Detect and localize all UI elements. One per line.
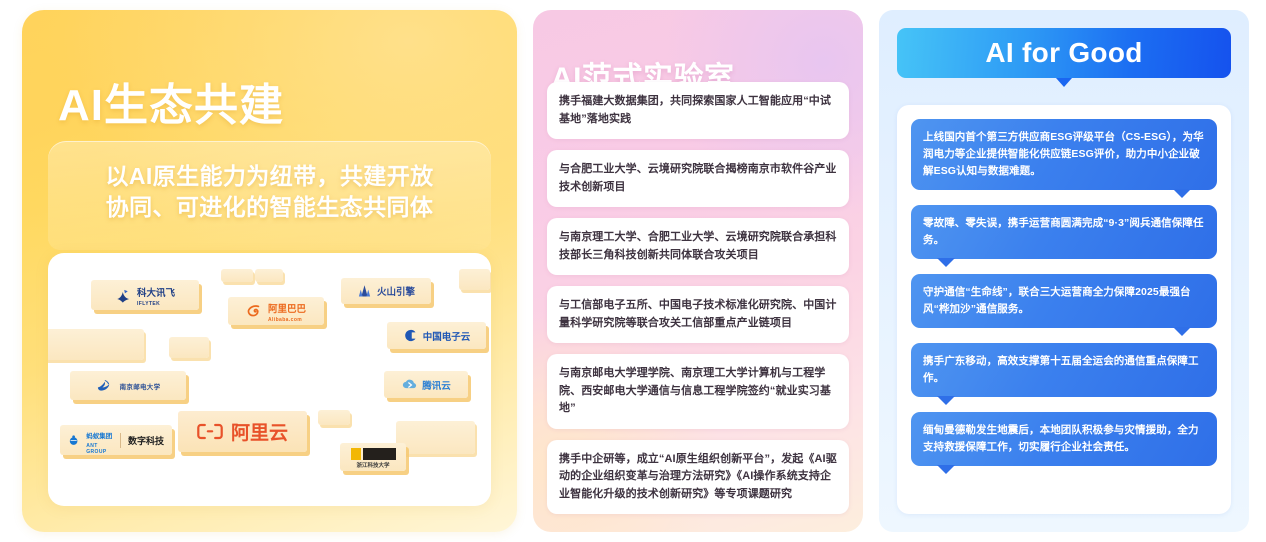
- panel-eco-subtitle-card: 以AI原生能力为纽带，共建开放 协同、可进化的智能生态共同体: [48, 141, 491, 250]
- logo-chip-label: 阿里巴巴 Alibaba.com: [268, 299, 306, 323]
- good-list-item[interactable]: 零故障、零失误，携手运营商圆满完成“9·3”阅兵通信保障任务。: [911, 205, 1217, 259]
- logo-chip-label-secondary: 数字科技: [128, 434, 164, 447]
- panel-eco-subtitle-line2: 协同、可进化的智能生态共同体: [48, 192, 491, 223]
- good-list-item[interactable]: 缅甸曼德勒发生地震后，本地团队积极参与灾情援助，全力支持救援保障工作，切实履行企…: [911, 412, 1217, 466]
- decor-chip: [48, 329, 144, 360]
- decor-chip: [459, 269, 490, 290]
- ant-group-icon: [68, 433, 79, 447]
- lab-list-item[interactable]: 携手福建大数据集团，共同探索国家人工智能应用“中试基地”落地实践: [547, 82, 849, 139]
- good-list-item[interactable]: 携手广东移动，高效支撑第十五届全运会的通信重点保障工作。: [911, 343, 1217, 397]
- iflytek-icon: [115, 287, 132, 304]
- bubble-tail-icon: [1173, 189, 1191, 198]
- panel-good-title: AI for Good: [897, 28, 1231, 78]
- lab-list-item[interactable]: 携手中企研等，成立“AI原生组织创新平台”，发起《AI驱动的企业组织变革与治理方…: [547, 440, 849, 515]
- logo-chip-label: 南京邮电大学: [120, 381, 161, 391]
- logo-chip-label: 浙江科技大学: [356, 461, 389, 469]
- lab-item-list: 携手福建大数据集团，共同探索国家人工智能应用“中试基地”落地实践 与合肥工业大学…: [547, 82, 849, 525]
- good-list-item-text: 上线国内首个第三方供应商ESG评级平台（CS-ESG），为华润电力等企业提供智能…: [911, 119, 1217, 190]
- good-list-item-text: 携手广东移动，高效支撑第十五届全运会的通信重点保障工作。: [911, 343, 1217, 397]
- panel-good-header: AI for Good: [897, 28, 1231, 87]
- good-list-item-text: 守护通信“生命线”，联合三大运营商全力保障2025最强台风“桦加沙”通信服务。: [911, 274, 1217, 328]
- lab-list-item[interactable]: 与合肥工业大学、云境研究院联合揭榜南京市软件谷产业技术创新项目: [547, 150, 849, 207]
- panel-eco-subtitle: 以AI原生能力为纽带，共建开放 协同、可进化的智能生态共同体: [48, 161, 491, 223]
- bubble-tail-icon: [1173, 327, 1191, 336]
- logo-chip-label: 腾讯云: [422, 378, 451, 392]
- logo-chip-label: 阿里云: [231, 418, 288, 445]
- university-bird-icon: [96, 378, 115, 393]
- logo-chip-alibaba[interactable]: 阿里巴巴 Alibaba.com: [228, 297, 324, 325]
- logo-chip-label: 蚂蚁集团 ANT GROUP: [86, 425, 113, 455]
- panel-eco-title: AI生态共建: [58, 69, 284, 133]
- lab-list-item[interactable]: 与南京邮电大学理学院、南京理工大学计算机与工程学院、西安邮电大学通信与信息工程学…: [547, 354, 849, 429]
- logo-chip-iflytek[interactable]: 科大讯飞 IFLYTEK: [91, 280, 199, 310]
- panel-good-title-tail: [1056, 78, 1072, 87]
- alibaba-icon: [246, 304, 263, 318]
- logo-chip-aliyun[interactable]: 阿里云: [178, 411, 307, 452]
- good-list-item-text: 零故障、零失误，携手运营商圆满完成“9·3”阅兵通信保障任务。: [911, 205, 1217, 259]
- good-list-item[interactable]: 上线国内首个第三方供应商ESG评级平台（CS-ESG），为华润电力等企业提供智能…: [911, 119, 1217, 190]
- panel-eco-subtitle-line1: 以AI原生能力为纽带，共建开放: [48, 161, 491, 192]
- bubble-tail-icon: [937, 465, 955, 474]
- aliyun-icon: [197, 423, 223, 440]
- decor-chip: [221, 269, 253, 282]
- lab-list-item[interactable]: 与南京理工大学、合肥工业大学、云境研究院联合承担科技部长三角科技创新共同体联合攻…: [547, 218, 849, 275]
- volcano-engine-icon: [357, 284, 372, 299]
- good-list-item-text: 缅甸曼德勒发生地震后，本地团队积极参与灾情援助，全力支持救援保障工作，切实履行企…: [911, 412, 1217, 466]
- panel-ai-ecosystem: AI生态共建 以AI原生能力为纽带，共建开放 协同、可进化的智能生态共同体: [22, 10, 517, 532]
- logo-chip-label: 火山引擎: [377, 284, 415, 298]
- bubble-tail-icon: [937, 396, 955, 405]
- decor-chip: [396, 421, 475, 454]
- panel-ai-paradigm-lab: AI范式实验室 携手福建大数据集团，共同探索国家人工智能应用“中试基地”落地实践…: [533, 10, 863, 532]
- decor-chip: [255, 269, 283, 282]
- tencent-cloud-icon: [401, 378, 417, 392]
- logo-chip-label: 中国电子云: [423, 329, 471, 343]
- poster-stage: AI生态共建 以AI原生能力为纽带，共建开放 协同、可进化的智能生态共同体: [0, 0, 1266, 542]
- logo-chip-ant-group[interactable]: 蚂蚁集团 ANT GROUP 数字科技: [60, 425, 172, 455]
- decor-chip: [318, 410, 350, 425]
- logo-chip-zust[interactable]: 浙江科技大学: [340, 443, 406, 471]
- logo-chip-university[interactable]: 南京邮电大学: [70, 371, 186, 400]
- logo-chip-tencent-cloud[interactable]: 腾讯云: [384, 371, 468, 398]
- partner-logo-board: 科大讯飞 IFLYTEK 阿里巴巴 Alibaba.com: [48, 253, 491, 506]
- bubble-tail-icon: [937, 258, 955, 267]
- logo-chip-cec-cloud[interactable]: 中国电子云: [387, 322, 486, 349]
- good-board: 上线国内首个第三方供应商ESG评级平台（CS-ESG），为华润电力等企业提供智能…: [897, 105, 1231, 514]
- lab-list-item[interactable]: 与工信部电子五所、中国电子技术标准化研究院、中国计量科学研究院等联合攻关工信部重…: [547, 286, 849, 343]
- zust-mark: [351, 448, 396, 460]
- good-item-list: 上线国内首个第三方供应商ESG评级平台（CS-ESG），为华润电力等企业提供智能…: [911, 119, 1217, 481]
- logo-chip-label: 科大讯飞 IFLYTEK: [137, 283, 175, 307]
- logo-chip-volcano-engine[interactable]: 火山引擎: [341, 278, 431, 304]
- panel-ai-for-good: AI for Good 上线国内首个第三方供应商ESG评级平台（CS-ESG），…: [879, 10, 1249, 532]
- decor-chip: [169, 337, 209, 358]
- good-list-item[interactable]: 守护通信“生命线”，联合三大运营商全力保障2025最强台风“桦加沙”通信服务。: [911, 274, 1217, 328]
- cec-cloud-icon: [403, 328, 418, 343]
